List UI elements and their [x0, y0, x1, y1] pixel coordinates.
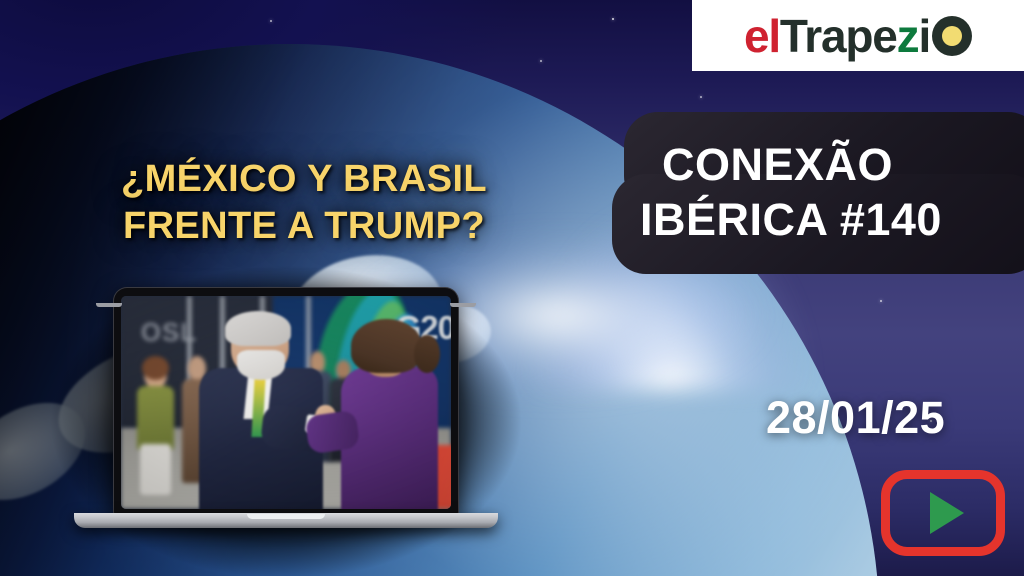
laptop-foot-right	[450, 303, 476, 307]
laptop-screen: G20 OSL	[121, 296, 451, 509]
logo-o-inner-dot	[942, 26, 962, 46]
photo-vignette	[121, 296, 451, 509]
brand-logo-text: elTrapezi	[744, 13, 972, 59]
laptop-mockup: G20 OSL	[74, 288, 498, 550]
logo-o-dot-icon	[932, 16, 972, 56]
episode-line-1: CONEXÃO	[640, 138, 1024, 193]
screen-photo: G20 OSL	[121, 296, 451, 509]
laptop-base	[74, 513, 498, 528]
episode-badge: CONEXÃO IBÉRICA #140	[612, 112, 1024, 274]
logo-part-i: i	[918, 13, 930, 59]
headline-line-1: ¿MÉXICO Y BRASIL	[44, 156, 564, 203]
video-thumbnail: ¿MÉXICO Y BRASIL FRENTE A TRUMP? G20 OSL	[0, 0, 1024, 576]
logo-part-trape: Trape	[780, 13, 897, 59]
laptop-base-notch	[247, 514, 325, 519]
play-button[interactable]	[881, 470, 1005, 556]
logo-part-el: el	[744, 13, 780, 59]
brand-logo[interactable]: elTrapezi	[692, 0, 1024, 71]
episode-badge-text: CONEXÃO IBÉRICA #140	[612, 112, 1024, 274]
logo-part-z: z	[897, 13, 919, 59]
episode-date: 28/01/25	[766, 392, 945, 444]
laptop-lid: G20 OSL	[114, 288, 458, 515]
episode-line-2: IBÉRICA #140	[640, 193, 1024, 248]
play-triangle-icon	[930, 492, 964, 534]
laptop-foot-left	[96, 303, 122, 307]
headline-title: ¿MÉXICO Y BRASIL FRENTE A TRUMP?	[44, 156, 564, 250]
